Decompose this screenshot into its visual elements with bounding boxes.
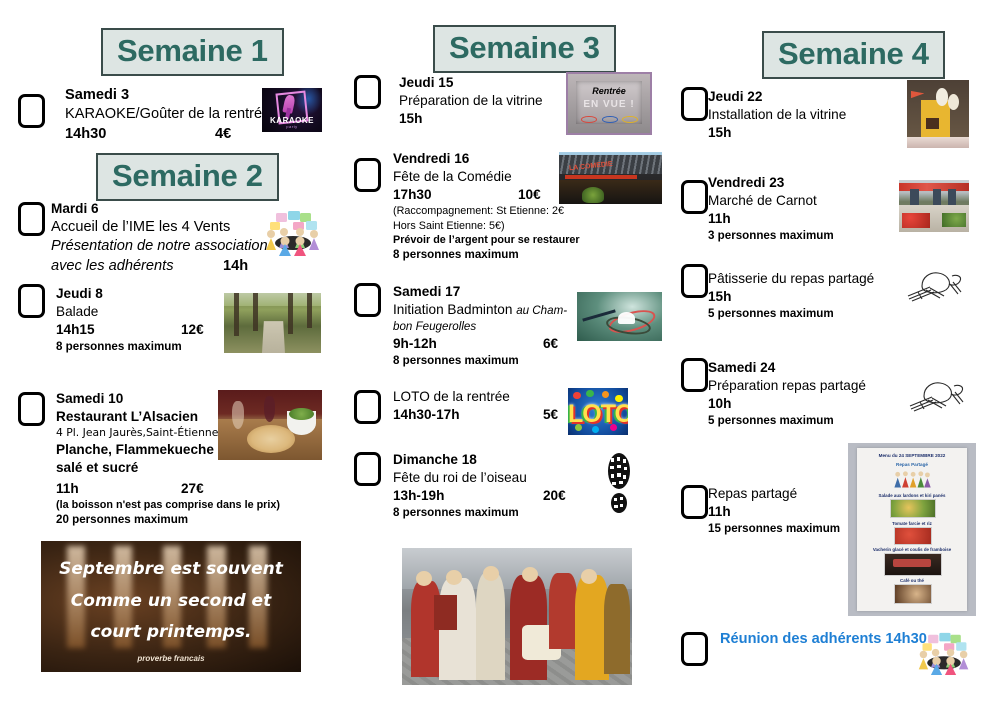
event-time: 15h: [399, 110, 579, 128]
event-price: 12€: [181, 321, 204, 339]
week-heading-4: Semaine 4: [762, 31, 945, 79]
reunion-label: Réunion des adhérents 14h30: [720, 630, 927, 649]
event-note-3: Prévoir de l’argent pour se restaurer: [393, 233, 603, 247]
event-checkbox[interactable]: [681, 632, 708, 666]
event-checkbox[interactable]: [18, 94, 45, 128]
event-checkbox[interactable]: [681, 180, 708, 214]
menu-people-icon: [890, 469, 934, 489]
week-heading-3: Semaine 3: [433, 25, 616, 73]
event-time: 14h: [223, 257, 248, 276]
footprint-icon: [604, 452, 634, 514]
week-column-4: Semaine 4 Jeudi 22 Installation de la vi…: [670, 0, 1000, 707]
event-time-row: 14h30-17h 5€: [393, 406, 578, 424]
event-limit: 8 personnes maximum: [393, 505, 583, 520]
karaoke-poster-image: KARAOKE party: [262, 88, 322, 132]
event-time: 14h30: [65, 126, 106, 142]
proverb-line-2: Comme un second et: [41, 591, 301, 611]
event-time-row: 11h 27€: [56, 480, 271, 498]
event-checkbox[interactable]: [354, 158, 381, 192]
event-activity: Installation de la vitrine: [708, 106, 888, 124]
menu-item-2: Tomate farcie et riz: [857, 521, 967, 526]
week-heading-1: Semaine 1: [101, 28, 284, 76]
week-heading-2: Semaine 2: [96, 153, 279, 201]
event-checkbox[interactable]: [681, 264, 708, 298]
event-activity: LOTO de la rentrée: [393, 388, 578, 406]
event-activity-loc-2: bon Feugerolles: [393, 319, 578, 334]
vitrine-text-1: Rentrée: [579, 86, 638, 96]
event-limit: 20 personnes maximum: [56, 512, 271, 527]
event-note-2-row: avec les adhérents 14h: [51, 257, 261, 276]
proverb-banner-image: Septembre est souvent Comme un second et…: [41, 541, 301, 672]
event-checkbox[interactable]: [354, 452, 381, 486]
event-note: (la boisson n'est pas comprise dans le p…: [56, 498, 271, 512]
boutique-window-photo: [907, 80, 969, 148]
event-checkbox[interactable]: [354, 75, 381, 109]
whisk-clipart-image: [908, 378, 966, 412]
event-time: 9h-12h: [393, 336, 437, 351]
event-limit: 5 personnes maximum: [708, 306, 903, 321]
vitrine-rentree-image: Rentrée EN VUE !: [566, 72, 652, 135]
week-column-1: Semaine 1 Samedi 3 KARAOKE/Goûter de la …: [0, 0, 340, 707]
event-time: 15h: [708, 124, 888, 142]
event-time: 10h: [708, 395, 903, 413]
menu-item-3: Vacherin glacé et coulis de framboise: [857, 547, 967, 552]
event-price: 4€: [215, 125, 231, 144]
menu-subtitle: Repas Partagé: [857, 462, 967, 467]
event-limit: 5 personnes maximum: [708, 413, 903, 428]
event-price: 27€: [181, 480, 204, 498]
menu-item-1: Salade aux lardons et kiri panés: [857, 493, 967, 498]
menu-title: Menu du 24 SEPTEMBRE 2022: [857, 453, 967, 458]
event-note-2: Hors Saint Etienne: 5€): [393, 219, 603, 233]
event-time: 11h: [708, 210, 888, 228]
event-price: 6€: [543, 335, 558, 353]
event-price: 20€: [543, 487, 566, 505]
event-time: 13h-19h: [393, 488, 444, 503]
event-checkbox[interactable]: [18, 392, 45, 426]
forest-path-photo: [224, 293, 321, 353]
event-checkbox[interactable]: [681, 358, 708, 392]
event-time: 17h30: [393, 187, 432, 202]
event-day: Jeudi 15: [399, 74, 579, 92]
week-column-3: Semaine 3 Jeudi 15 Préparation de la vit…: [340, 0, 670, 707]
event-time-row: 13h-19h 20€: [393, 487, 583, 505]
event-activity: Préparation de la vitrine: [399, 92, 579, 110]
medieval-parade-photo: [402, 548, 632, 685]
event-limit: 3 personnes maximum: [708, 228, 888, 243]
event-note-1: (Raccompagnement: St Etienne: 2€: [393, 204, 603, 218]
event-day: Samedi 24: [708, 359, 903, 377]
event-time-row: 14h30 4€: [65, 125, 265, 144]
event-time: 11h: [708, 504, 731, 519]
event-time-row: 9h-12h 6€: [393, 335, 578, 353]
event-limit: 8 personnes maximum: [393, 353, 578, 368]
event-activity: Marché de Carnot: [708, 192, 888, 210]
event-time: 11h: [56, 481, 79, 496]
market-stall-photo: [899, 180, 969, 232]
event-activity-row: Initiation Badminton au Cham-: [393, 301, 578, 319]
event-day: Samedi 3: [65, 86, 265, 105]
event-activity: Préparation repas partagé: [708, 377, 903, 395]
restaurant-pizza-photo: [218, 390, 322, 460]
karaoke-sub: party: [267, 124, 317, 129]
event-activity: KARAOKE/Goûter de la rentrée: [65, 105, 265, 124]
event-time: 15h: [708, 288, 903, 306]
event-checkbox[interactable]: [354, 283, 381, 317]
event-detail-2: salé et sucré: [56, 459, 271, 477]
event-time: 14h15: [56, 322, 95, 337]
event-activity: Initiation Badminton: [393, 302, 512, 317]
event-day: Samedi 17: [393, 283, 578, 301]
event-note-1: Présentation de notre association: [51, 237, 261, 256]
proverb-line-3: court printemps.: [41, 622, 301, 642]
event-checkbox[interactable]: [18, 284, 45, 318]
comedie-theatre-photo: LA COMEDIE: [559, 152, 662, 204]
event-price: 5€: [543, 406, 558, 424]
event-day: Mardi 6: [51, 200, 261, 218]
menu-item-4: Café ou thé: [857, 578, 967, 583]
event-checkbox[interactable]: [354, 390, 381, 424]
badminton-photo: [577, 292, 662, 341]
event-day: Dimanche 18: [393, 451, 583, 469]
event-note-2: avec les adhérents: [51, 258, 174, 274]
event-price: 10€: [518, 186, 541, 204]
event-activity: Pâtisserie du repas partagé: [708, 270, 903, 288]
event-activity: Fête du roi de l’oiseau: [393, 469, 583, 487]
event-activity-loc-1: au Cham-: [516, 304, 567, 317]
meeting-clipart-image: [262, 210, 324, 256]
proverb-line-1: Septembre est souvent: [41, 559, 301, 579]
event-checkbox[interactable]: [681, 485, 708, 519]
loto-poster-image: LOTO: [568, 388, 628, 435]
event-day: Vendredi 23: [708, 174, 888, 192]
whisk-clipart-image: [906, 268, 964, 302]
event-limit: 8 personnes maximum: [393, 247, 603, 262]
event-activity: Accueil de l’IME les 4 Vents: [51, 218, 261, 237]
menu-poster-image: Menu du 24 SEPTEMBRE 2022 Repas Partagé …: [848, 443, 976, 616]
meeting-clipart-image: [915, 632, 973, 675]
event-time: 14h30-17h: [393, 407, 460, 422]
event-checkbox[interactable]: [18, 202, 45, 236]
proverb-source: proverbe francais: [41, 654, 301, 663]
vitrine-text-2: EN VUE !: [576, 99, 642, 110]
event-checkbox[interactable]: [681, 87, 708, 121]
event-day: Jeudi 22: [708, 88, 888, 106]
